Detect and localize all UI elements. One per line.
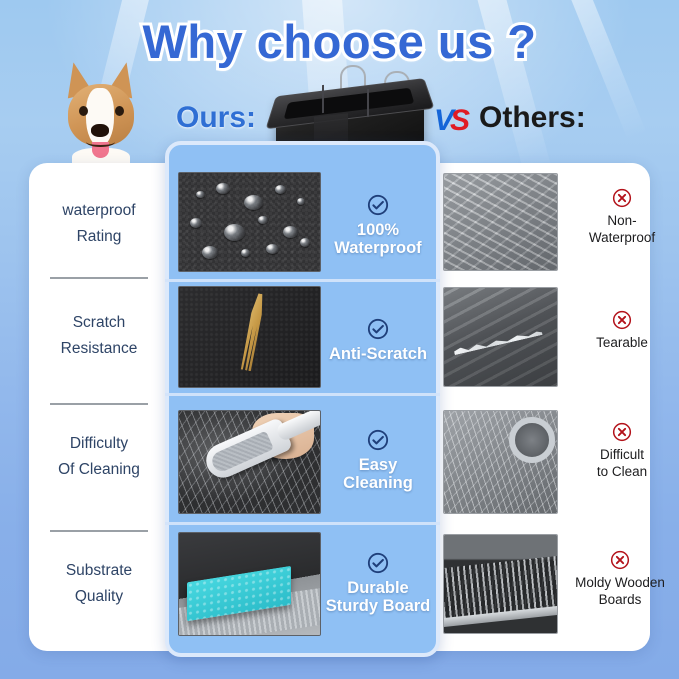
ours-label-line-2: Cleaning [323, 474, 433, 492]
ours-label-line-2: Waterproof [323, 239, 433, 257]
ours-photo-anti-scratch [178, 286, 321, 388]
table-row: Scratch Resistance Anti-Scratch [0, 282, 679, 394]
others-label-tearable: Tearable [563, 310, 679, 352]
others-photo-non-waterproof [443, 173, 558, 271]
water-droplet [300, 238, 310, 247]
others-photo-difficult-to-clean [443, 410, 558, 514]
attribute-label-waterproof: waterproof Rating [36, 198, 162, 249]
ours-label-line-1: Durable [323, 579, 433, 597]
others-label-moldy-boards: Moldy Wooden Boards [557, 550, 679, 609]
others-label-line-2: Waterproof [563, 230, 679, 247]
ours-label-line-1: 100% [323, 221, 433, 239]
ours-photo-sturdy-board [178, 532, 321, 636]
table-row: Difficulty Of Cleaning Easy Cleaning [0, 396, 679, 524]
attribute-line-1: Scratch [36, 310, 162, 336]
ours-photo-easy-cleaning [178, 410, 321, 514]
attribute-line-2: Of Cleaning [36, 457, 162, 483]
check-circle-icon [367, 318, 389, 340]
water-droplet [275, 185, 286, 194]
attribute-line-2: Rating [36, 224, 162, 250]
ours-photo-waterproof [178, 172, 321, 272]
cross-circle-icon [612, 422, 632, 442]
attribute-line-2: Resistance [36, 336, 162, 362]
attribute-line-1: waterproof [36, 198, 162, 224]
attribute-label-substrate: Substrate Quality [36, 558, 162, 609]
others-label-line-1: Tearable [563, 335, 679, 352]
cross-circle-icon [612, 188, 632, 208]
others-label-line-2: to Clean [563, 464, 679, 481]
ours-label-anti-scratch: Anti-Scratch [323, 318, 433, 363]
ours-label-easy-cleaning: Easy Cleaning [323, 429, 433, 493]
photo-texture [444, 535, 557, 633]
others-photo-moldy-wooden-boards [443, 534, 558, 634]
water-droplet [202, 246, 218, 259]
attribute-line-2: Quality [36, 584, 162, 610]
infographic-canvas: Why choose us ? Ours: VS Others: [0, 0, 679, 679]
attribute-line-1: Difficulty [36, 431, 162, 457]
attribute-label-cleaning: Difficulty Of Cleaning [36, 431, 162, 482]
others-label-line-1: Non- [563, 213, 679, 230]
ours-label-line-1: Anti-Scratch [323, 345, 433, 363]
table-row: waterproof Rating [0, 170, 679, 280]
cross-circle-icon [612, 310, 632, 330]
cross-circle-icon [610, 550, 630, 570]
check-circle-icon [367, 552, 389, 574]
attribute-line-1: Substrate [36, 558, 162, 584]
photo-texture [444, 288, 557, 386]
attribute-label-scratch: Scratch Resistance [36, 310, 162, 361]
water-droplet [224, 224, 245, 241]
water-droplet [244, 195, 263, 210]
others-label-line-1: Difficult [563, 447, 679, 464]
comparison-rows: waterproof Rating [0, 0, 679, 679]
others-photo-tearable [443, 287, 558, 387]
water-droplet [196, 191, 205, 198]
metal-ring [509, 417, 555, 463]
ours-label-line-2: Sturdy Board [323, 597, 433, 615]
ours-label-line-1: Easy [323, 456, 433, 474]
ours-label-sturdy-board: Durable Sturdy Board [323, 552, 433, 616]
table-row: Substrate Quality Durable Sturdy Board [0, 526, 679, 648]
others-label-line-2: Boards [557, 592, 679, 609]
check-circle-icon [367, 429, 389, 451]
others-label-non-waterproof: Non- Waterproof [563, 188, 679, 247]
check-circle-icon [367, 194, 389, 216]
others-label-difficult-to-clean: Difficult to Clean [563, 422, 679, 481]
water-droplet [266, 244, 279, 254]
photo-texture [444, 174, 557, 270]
ours-label-waterproof: 100% Waterproof [323, 194, 433, 258]
water-droplet [216, 183, 230, 194]
others-label-line-1: Moldy Wooden [557, 575, 679, 592]
